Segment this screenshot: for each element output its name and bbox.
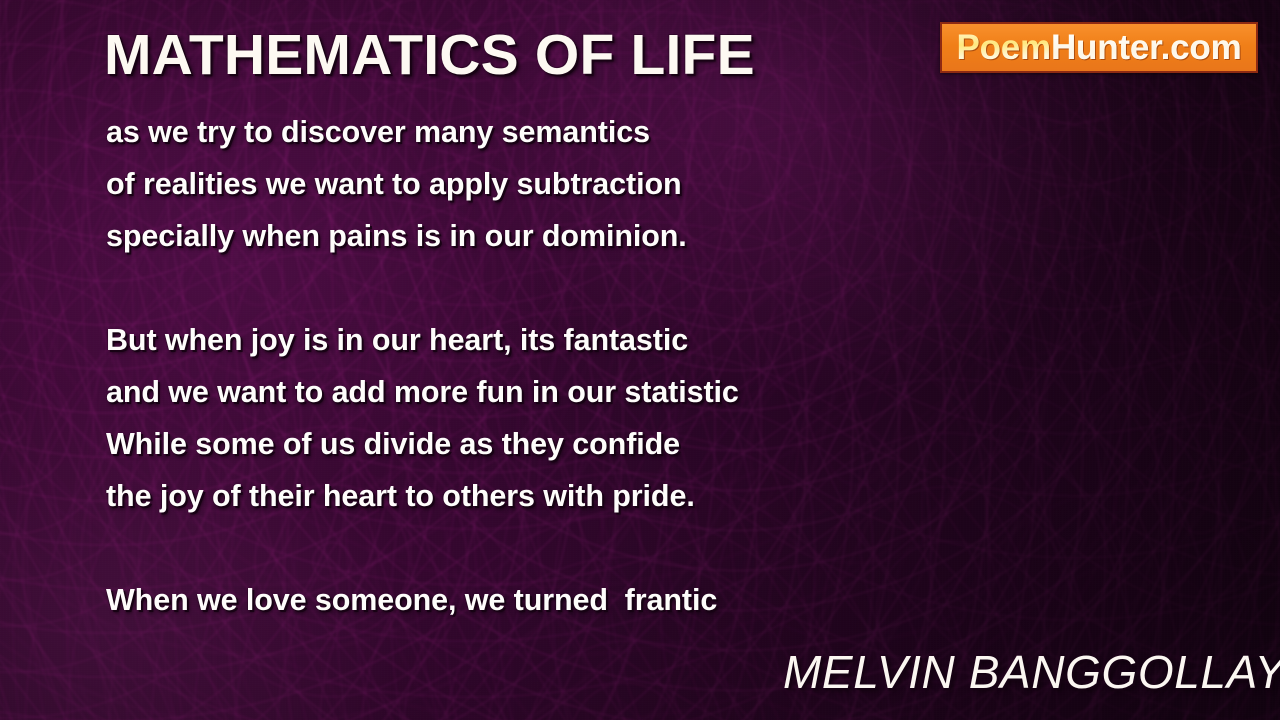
poem-line: and we want to add more fun in our stati… [106,366,886,418]
poemhunter-logo-text: PoemHunter.com [956,30,1241,65]
poem-line: as we try to discover many semantics [106,106,886,158]
page-title: MATHEMATICS OF LIFE [104,22,755,88]
poem-line: But when joy is in our heart, its fantas… [106,314,886,366]
poem-line: specially when pains is in our dominion. [106,210,886,262]
poem-line: While some of us divide as they confide [106,418,886,470]
poemhunter-logo[interactable]: PoemHunter.com [940,22,1258,73]
poem-stanza-break [106,522,886,574]
poem-image-canvas: MATHEMATICS OF LIFE as we try to discove… [0,0,1280,720]
logo-brand-prefix: Poem [956,28,1051,67]
poem-line: When we love someone, we turned frantic [106,574,886,626]
poem-line: the joy of their heart to others with pr… [106,470,886,522]
logo-brand-suffix: Hunter.com [1051,28,1242,67]
poem-line: of realities we want to apply subtractio… [106,158,886,210]
poem-content: MATHEMATICS OF LIFE as we try to discove… [0,0,1280,720]
poem-body: as we try to discover many semantics of … [106,106,886,626]
poem-author-credit: MELVIN BANGGOLLAY [783,645,1280,699]
poem-stanza-break [106,262,886,314]
